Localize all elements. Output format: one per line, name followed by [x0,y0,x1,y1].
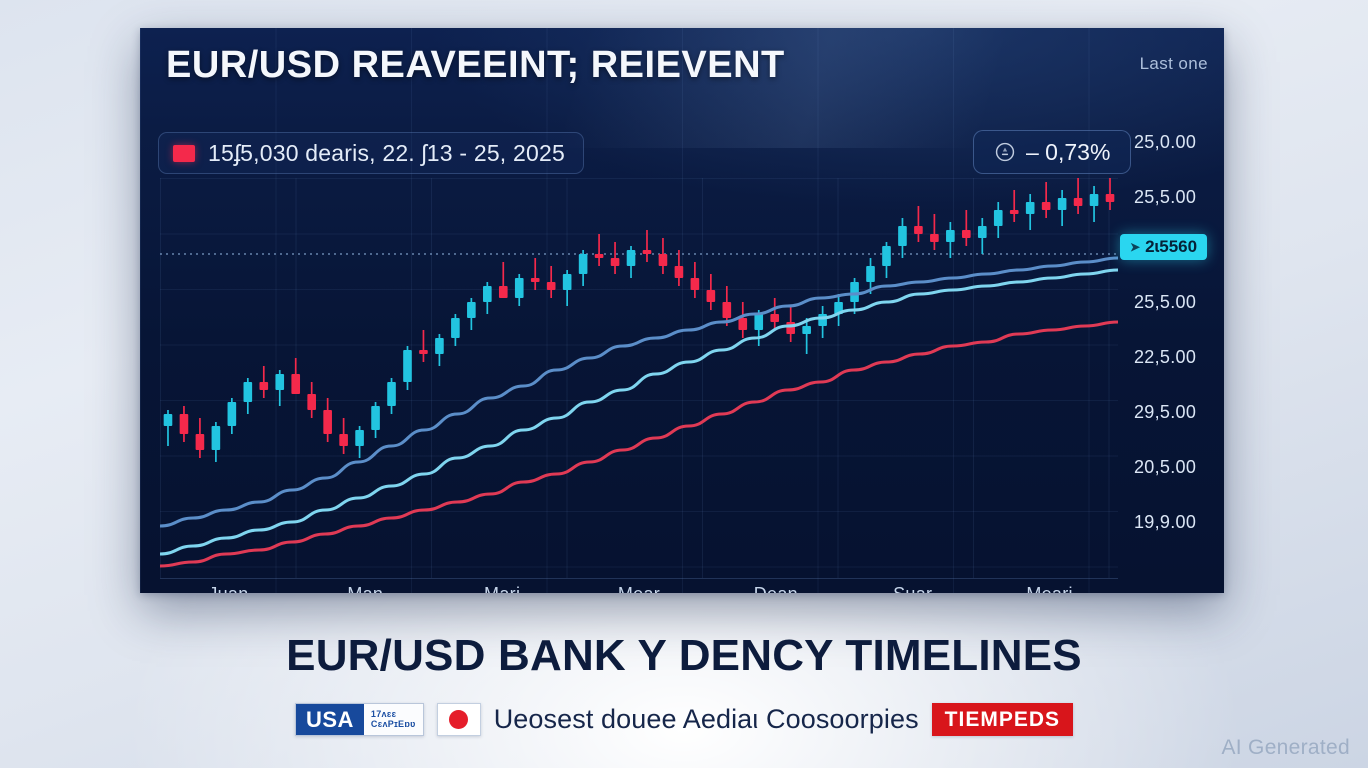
usa-badge-line2: CɛʌPɪEɒʋ [371,720,416,729]
legend-color-swatch [173,145,195,162]
japan-flag-icon [437,703,481,736]
usa-badge-sublabel: 17ʌɛɛ CɛʌPɪEɒʋ [364,704,423,735]
usa-badge: USA 17ʌɛɛ CɛʌPɪEɒʋ [295,703,424,736]
y-tick: 25,5.00 [1134,187,1224,208]
plot-canvas [160,178,1118,578]
x-tick: Man [297,584,434,593]
chart-panel: EUR/USD REAVEEINT; REIEVENT 15ʄ5,030 dea… [140,28,1224,593]
y-tick: 22,5.00 [1134,347,1224,368]
y-axis: 25,0.00 25,5.00 ➤ 2ɩ5560 25,5.00 22,5.00… [1134,124,1224,544]
y-tick: 25,5.00 [1134,292,1224,313]
ai-generated-watermark: AI Generated [1221,736,1350,760]
x-tick: Juan [160,584,297,593]
x-tick: Meari [981,584,1118,593]
y-tick: 19,9.00 [1134,512,1224,533]
refresh-circle-icon [994,141,1016,163]
x-tick: Mear [571,584,708,593]
y-tick: 29,5.00 [1134,402,1224,423]
chart-legend-pill: 15ʄ5,030 dearis, 22. ʃ13 - 25, 2025 [158,132,584,174]
chart-subtitle: 15ʄ5,030 dearis, 22. ʃ13 - 25, 2025 [208,140,565,167]
change-badge[interactable]: – 0,73% [973,130,1131,174]
japan-flag-disc [449,710,468,729]
x-tick: Mari [434,584,571,593]
current-price-value: 2ɩ5560 [1145,237,1197,257]
chart-title: EUR/USD REAVEEINT; REIEVENT [166,44,785,87]
change-value: – 0,73% [1026,139,1110,166]
x-tick: Suar [844,584,981,593]
last-price-label: Last one [1140,54,1208,74]
x-axis: Juan Man Mari Mear Dean Suar Meari [160,584,1118,593]
current-price-tag[interactable]: ➤ 2ɩ5560 [1120,234,1207,260]
y-tick: 20,5.00 [1134,457,1224,478]
x-axis-rule [160,578,1118,579]
plot-area [160,178,1118,578]
badge-row: USA 17ʌɛɛ CɛʌPɪEɒʋ Ueosest douee Aediaι … [0,703,1368,736]
badge-caption-text: Ueosest douee Aediaι Coosoorpies [494,704,919,735]
red-badge: TIEMPEDS [932,703,1073,736]
usa-badge-label: USA [296,704,364,735]
caption-title: EUR/USD BANK Y DENCY TIMELINES [0,631,1368,681]
cursor-icon: ➤ [1130,240,1140,254]
y-tick: 25,0.00 [1134,132,1224,153]
x-tick: Dean [707,584,844,593]
